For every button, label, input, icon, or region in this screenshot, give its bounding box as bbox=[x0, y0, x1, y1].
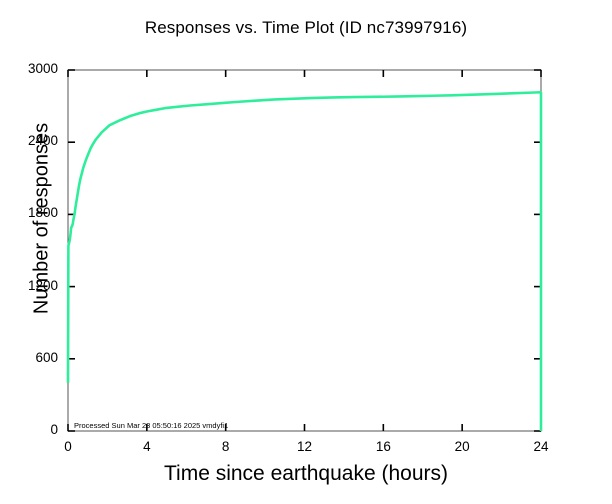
x-axis-tick-label: 24 bbox=[521, 439, 561, 454]
processing-annotation: Processed Sun Mar 23 05:50:16 2025 vmdyf… bbox=[74, 421, 228, 430]
x-axis-tick-label: 20 bbox=[442, 439, 482, 454]
x-axis-tick-label: 4 bbox=[127, 439, 167, 454]
data-series-line bbox=[68, 92, 541, 431]
y-axis-tick-label: 3000 bbox=[6, 61, 58, 76]
axis-frame bbox=[68, 70, 541, 431]
y-axis-tick-label: 0 bbox=[6, 422, 58, 437]
y-axis-tick-label: 2400 bbox=[6, 133, 58, 148]
y-axis-tick-label: 600 bbox=[6, 350, 58, 365]
x-axis-tick-label: 12 bbox=[285, 439, 325, 454]
y-axis-tick-label: 1800 bbox=[6, 205, 58, 220]
x-axis-tick-label: 0 bbox=[48, 439, 88, 454]
x-axis-tick-label: 8 bbox=[206, 439, 246, 454]
y-axis-tick-label: 1200 bbox=[6, 278, 58, 293]
chart-figure: Responses vs. Time Plot (ID nc73997916) … bbox=[0, 0, 612, 504]
x-axis-tick-label: 16 bbox=[363, 439, 403, 454]
